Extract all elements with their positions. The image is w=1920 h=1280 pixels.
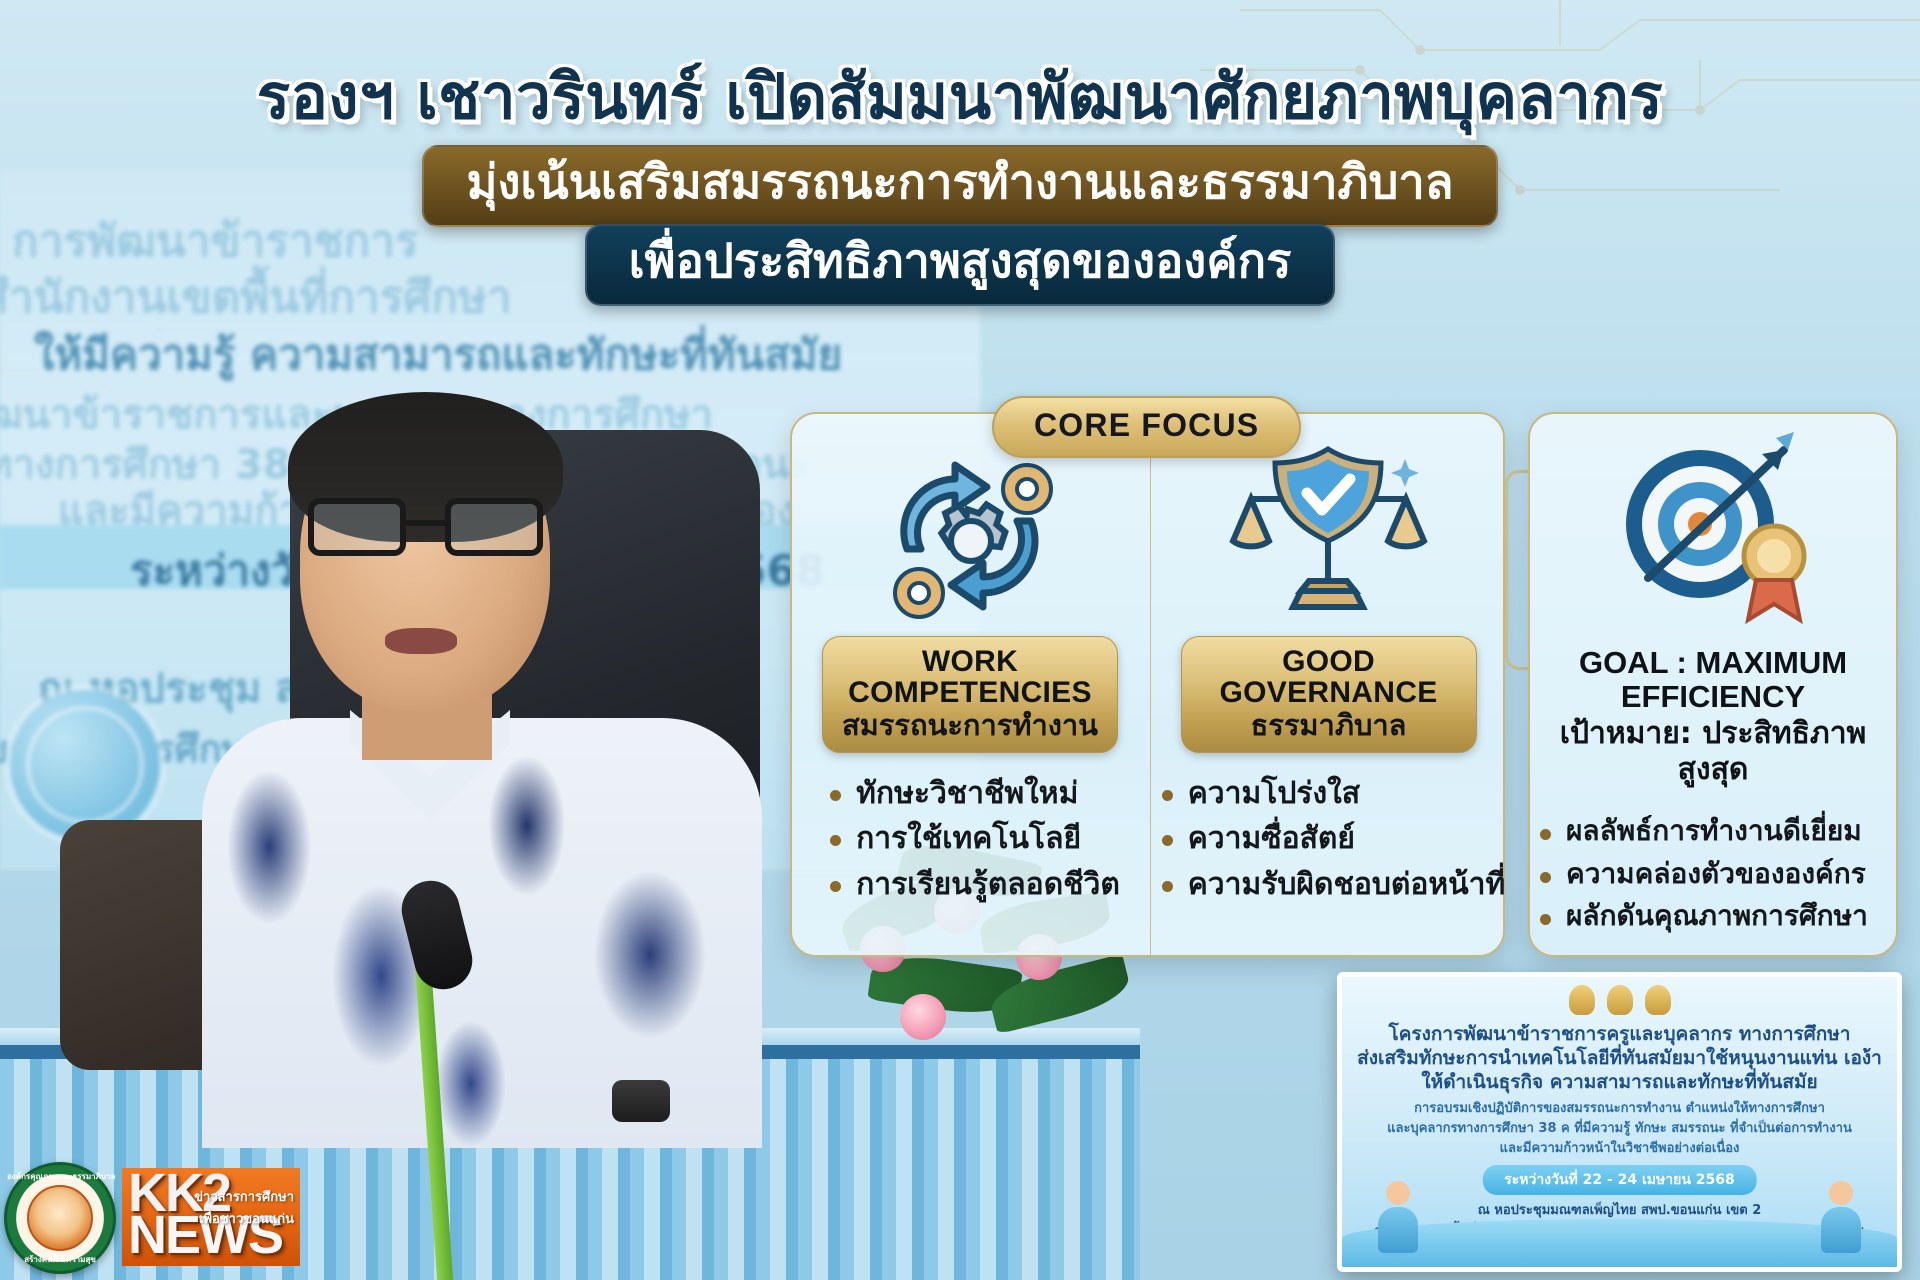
good-governance-label-en-line1: GOOD xyxy=(1190,646,1468,677)
seal-emblem xyxy=(27,1185,93,1251)
goal-label-th: เป้าหมาย: ประสิทธิภาพสูงสุด xyxy=(1540,716,1886,788)
seal-bottom-text: สร้างคนดี มีความสุข xyxy=(7,1253,113,1266)
work-competencies-label-th: สมรรถนะการทำงาน xyxy=(831,709,1109,741)
core-focus-column-work-competencies: WORK COMPETENCIES สมรรถนะการทำงาน ทักษะว… xyxy=(792,414,1148,955)
speaker-glasses xyxy=(308,498,543,560)
list-item: ผลลัพธ์การทำงานดีเยี่ยม xyxy=(1536,810,1896,853)
subtitle-navy-wrap: เพื่อประสิทธิภาพสูงสุดขององค์กร xyxy=(0,224,1920,306)
poster-line-4: การอบรมเชิงปฏิบัติการของสมรรถนะการทำงาน … xyxy=(1342,1097,1897,1118)
speaker-shirt xyxy=(202,718,762,1148)
work-competencies-label-en-line1: WORK xyxy=(831,646,1109,677)
good-governance-label-th: ธรรมาภิบาล xyxy=(1190,709,1468,741)
goal-heading: GOAL : MAXIMUM EFFICIENCY เป้าหมาย: ประส… xyxy=(1530,646,1896,788)
gears-cycle-icon xyxy=(863,436,1078,636)
seal-top-text: องค์กรคุณภาพและธรรมาภิบาล xyxy=(7,1170,113,1183)
core-focus-badge: CORE FOCUS xyxy=(992,396,1301,458)
list-item: ผลักดันคุณภาพการศึกษา xyxy=(1536,895,1896,938)
poster-date-chip: ระหว่างวันที่ 22 - 24 เมษายน 2568 xyxy=(1482,1165,1756,1195)
subtitle-navy: เพื่อประสิทธิภาพสูงสุดขององค์กร xyxy=(585,224,1336,306)
work-competencies-label: WORK COMPETENCIES สมรรถนะการทำงาน xyxy=(822,636,1118,753)
slide-globe-graphic xyxy=(10,690,160,840)
core-focus-column-good-governance: GOOD GOVERNANCE ธรรมาภิบาล ความโปร่งใส ค… xyxy=(1150,414,1506,955)
speaker-mouth xyxy=(385,628,457,654)
subtitle-gold-wrap: มุ่งเน้นเสริมสมรรถนะการทำงานและธรรมาภิบา… xyxy=(0,145,1920,227)
kk2-tagline-line-2: เพื่อชาวขอนแก่น xyxy=(199,1208,294,1229)
poster-figure-left xyxy=(1370,1181,1426,1253)
goal-label-en-line1: GOAL : MAXIMUM xyxy=(1540,646,1886,680)
goal-bullets: ผลลัพธ์การทำงานดีเยี่ยม ความคล่องตัวของอ… xyxy=(1530,810,1896,938)
list-item: ทักษะวิชาชีพใหม่ xyxy=(826,771,1120,817)
speaker-photo xyxy=(180,380,820,1140)
goal-label-en-line2: EFFICIENCY xyxy=(1540,680,1886,714)
list-item: ความรับผิดชอบต่อหน้าที่ xyxy=(1158,862,1506,908)
good-governance-label: GOOD GOVERNANCE ธรรมาภิบาล xyxy=(1181,636,1477,753)
list-item: ความคล่องตัวขององค์กร xyxy=(1536,853,1896,896)
goal-card: GOAL : MAXIMUM EFFICIENCY เป้าหมาย: ประส… xyxy=(1528,412,1898,957)
list-item: การใช้เทคโนโลยี xyxy=(826,816,1120,862)
inset-event-poster: โครงการพัฒนาข้าราชการครูและบุคลากร ทางกา… xyxy=(1337,972,1902,1272)
kk2-news-logo: KK2 NEWS ข่าวสารการศึกษา เพื่อชาวขอนแก่น xyxy=(122,1168,300,1266)
kk2-tagline-line-1: ข่าวสารการศึกษา xyxy=(194,1186,294,1207)
target-arrow-medal-icon xyxy=(1588,428,1838,643)
list-item: ความซื่อสัตย์ xyxy=(1158,816,1506,862)
organization-seal-logo: องค์กรคุณภาพและธรรมาภิบาล สร้างคนดี มีคว… xyxy=(4,1162,116,1274)
good-governance-label-en-line2: GOVERNANCE xyxy=(1190,677,1468,708)
page-title: รองฯ เชาวรินทร์ เปิดสัมมนาพัฒนาศักยภาพบุ… xyxy=(0,48,1920,146)
poster-line-5: และบุคลากรทางการศึกษา 38 ค ที่มีความรู้ … xyxy=(1342,1117,1897,1138)
branding-strip: องค์กรคุณภาพและธรรมาภิบาล สร้างคนดี มีคว… xyxy=(0,1152,300,1280)
slide-text-line-3: ให้มีความรู้ ความสามารถและทักษะที่ทันสมั… xyxy=(34,322,842,388)
screenshot-stage: การพัฒนาข้าราชการ สำนักงานเขตพื้นที่การศ… xyxy=(0,0,1920,1280)
work-competencies-bullets: ทักษะวิชาชีพใหม่ การใช้เทคโนโลยี การเรีย… xyxy=(820,771,1120,908)
scales-shield-icon xyxy=(1221,436,1436,636)
list-item: การเรียนรู้ตลอดชีวิต xyxy=(826,862,1120,908)
poster-line-6: และมีความก้าวหน้าในวิชาชีพอย่างต่อเนื่อง xyxy=(1342,1137,1897,1158)
list-item: ความโปร่งใส xyxy=(1158,771,1506,817)
subtitle-gold: มุ่งเน้นเสริมสมรรถนะการทำงานและธรรมาภิบา… xyxy=(422,145,1497,227)
work-competencies-label-en-line2: COMPETENCIES xyxy=(831,677,1109,708)
poster-figure-right xyxy=(1813,1181,1869,1253)
poster-line-3: ให้ดำเนินธุรกิจ ความสามารถและทักษะที่ทัน… xyxy=(1342,1067,1897,1097)
core-focus-card: WORK COMPETENCIES สมรรถนะการทำงาน ทักษะว… xyxy=(790,412,1505,957)
speaker-wristwatch xyxy=(612,1080,670,1122)
good-governance-bullets: ความโปร่งใส ความซื่อสัตย์ ความรับผิดชอบต… xyxy=(1152,771,1506,908)
poster-crest-icons xyxy=(1545,983,1695,1017)
